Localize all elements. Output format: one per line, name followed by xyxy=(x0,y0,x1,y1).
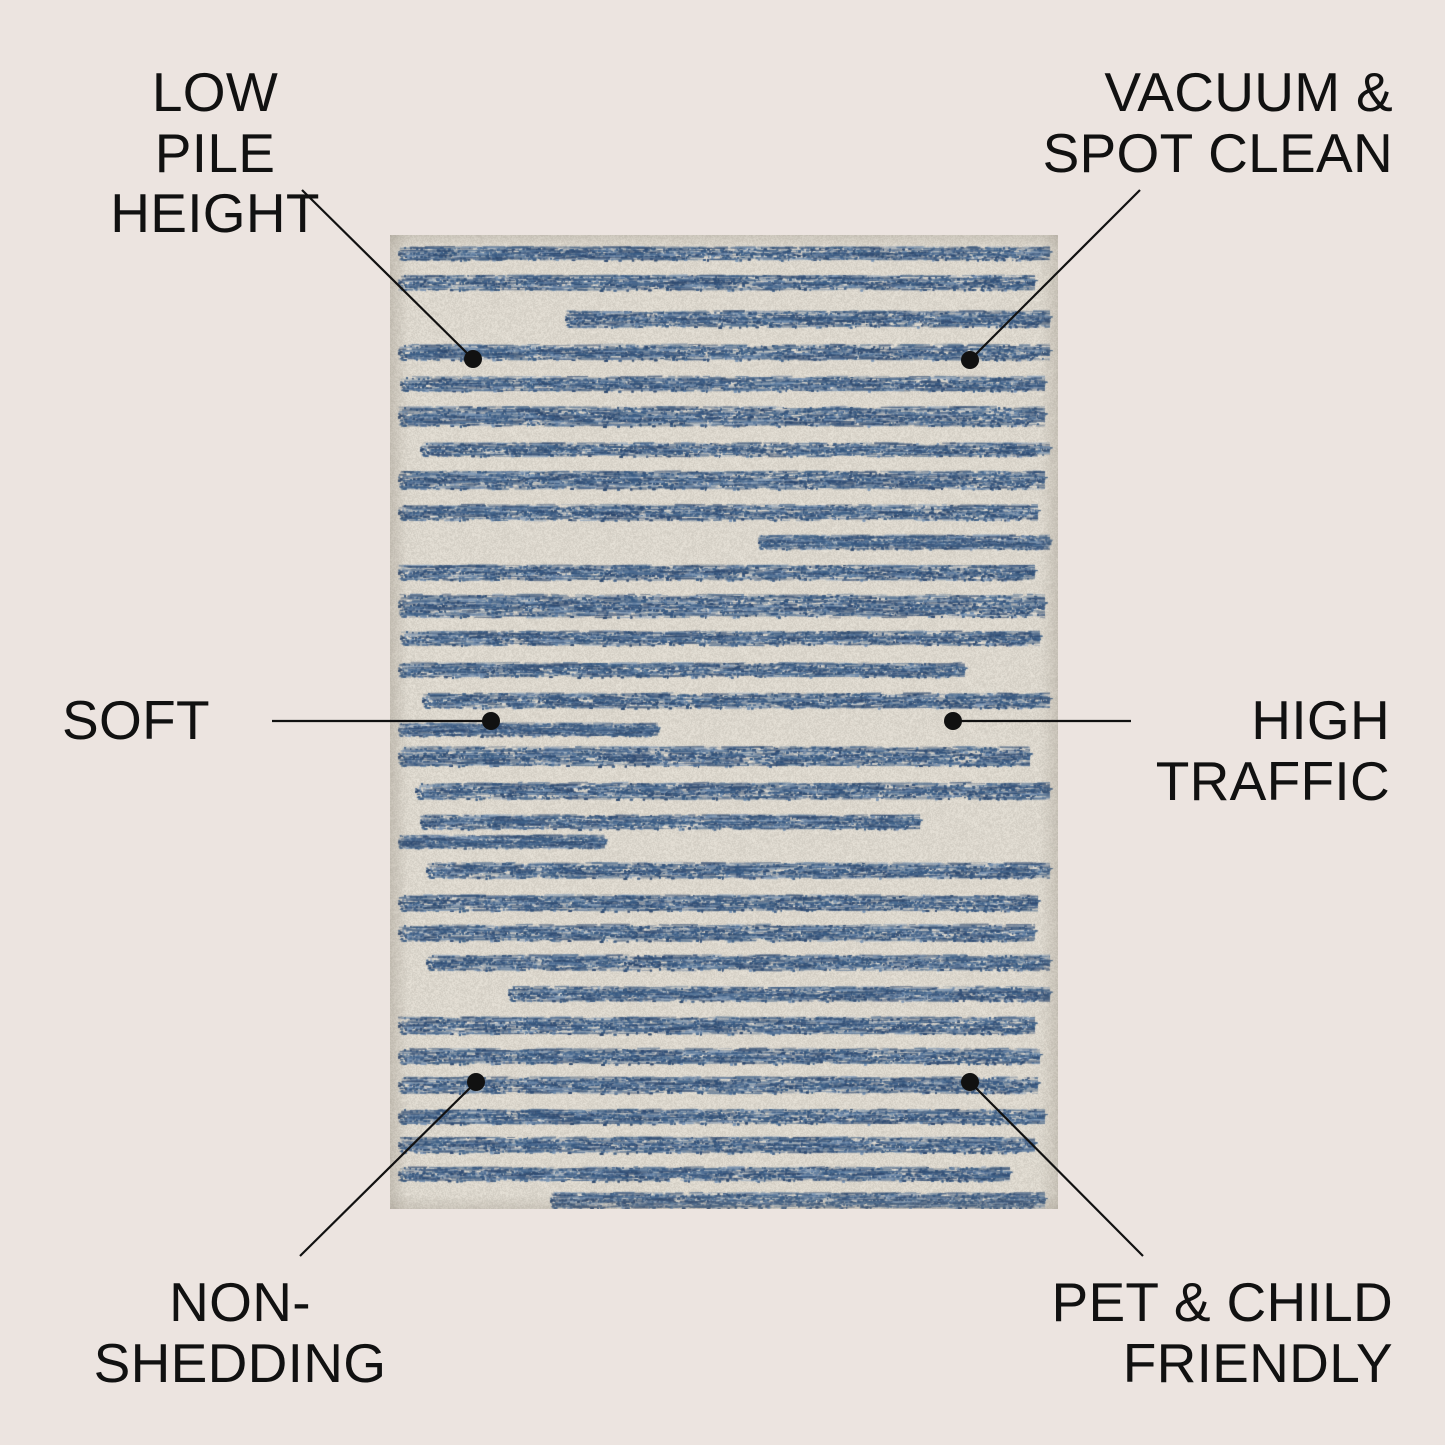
callout-label-high-traffic: HIGH TRAFFIC xyxy=(970,690,1390,811)
rug-texture-canvas xyxy=(390,235,1058,1209)
rug-product-image xyxy=(390,235,1058,1209)
callout-label-pet-child-friendly: PET & CHILD FRIENDLY xyxy=(973,1272,1393,1393)
callout-label-non-shedding: NON- SHEDDING xyxy=(60,1272,420,1393)
callout-label-soft: SOFT xyxy=(62,690,362,751)
callout-label-vacuum-spot-clean: VACUUM & SPOT CLEAN xyxy=(973,62,1393,183)
infographic-canvas: LOW PILE HEIGHT VACUUM & SPOT CLEAN SOFT… xyxy=(0,0,1445,1445)
callout-label-low-pile-height: LOW PILE HEIGHT xyxy=(60,62,370,244)
